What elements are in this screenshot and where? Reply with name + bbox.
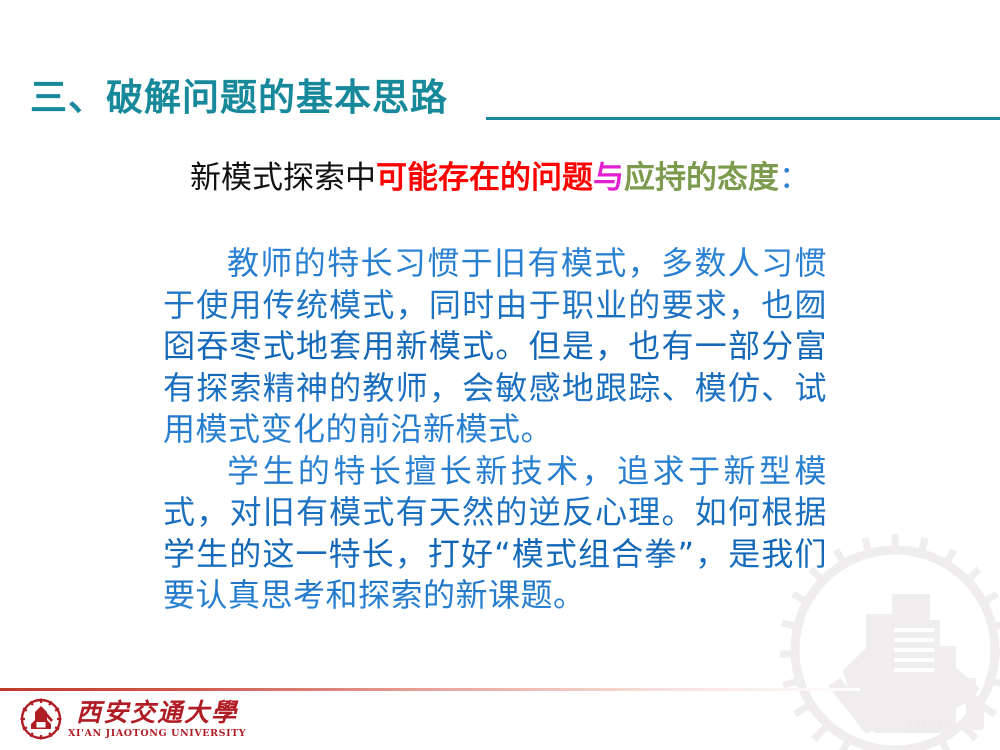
subtitle-highlight-attitude: 应持的态度 [624,160,779,196]
slide-body: 教师的特长习惯于旧有模式，多数人习惯于使用传统模式，同时由于职业的要求，也囫囵吞… [163,243,827,617]
slide-title-row: 三、破解问题的基本思路 [0,74,1000,130]
title-underline-rule [486,117,1000,120]
xjtu-emblem-icon [20,698,62,740]
page-title: 三、破解问题的基本思路 [30,74,448,122]
subtitle-highlight-problems: 可能存在的问题 [376,160,593,196]
subtitle-colon: ： [779,160,810,196]
slide-subtitle: 新模式探索中可能存在的问题与应持的态度： [0,158,1000,198]
subtitle-plain-prefix: 新模式探索中 [190,160,376,196]
watermark-year: 1896 [906,716,948,734]
slide-canvas: 1896 三、破解问题的基本思路 新模式探索中可能存在的问题与应持的态度： 教师… [0,0,1000,750]
logo-name-cn: 西安交通大學 [76,700,238,725]
body-paragraph-1: 教师的特长习惯于旧有模式，多数人习惯于使用传统模式，同时由于职业的要求，也囫囵吞… [163,243,827,451]
university-logo: 西安交通大學 XI'AN JIAOTONG UNIVERSITY [20,698,246,740]
logo-wordmark: 西安交通大學 XI'AN JIAOTONG UNIVERSITY [68,700,246,739]
subtitle-connector: 与 [593,160,624,196]
footer-divider-rule [0,688,860,691]
body-paragraph-2: 学生的特长擅长新技术，追求于新型模式，对旧有模式有天然的逆反心理。如何根据学生的… [163,451,827,617]
logo-name-en: XI'AN JIAOTONG UNIVERSITY [68,729,246,739]
